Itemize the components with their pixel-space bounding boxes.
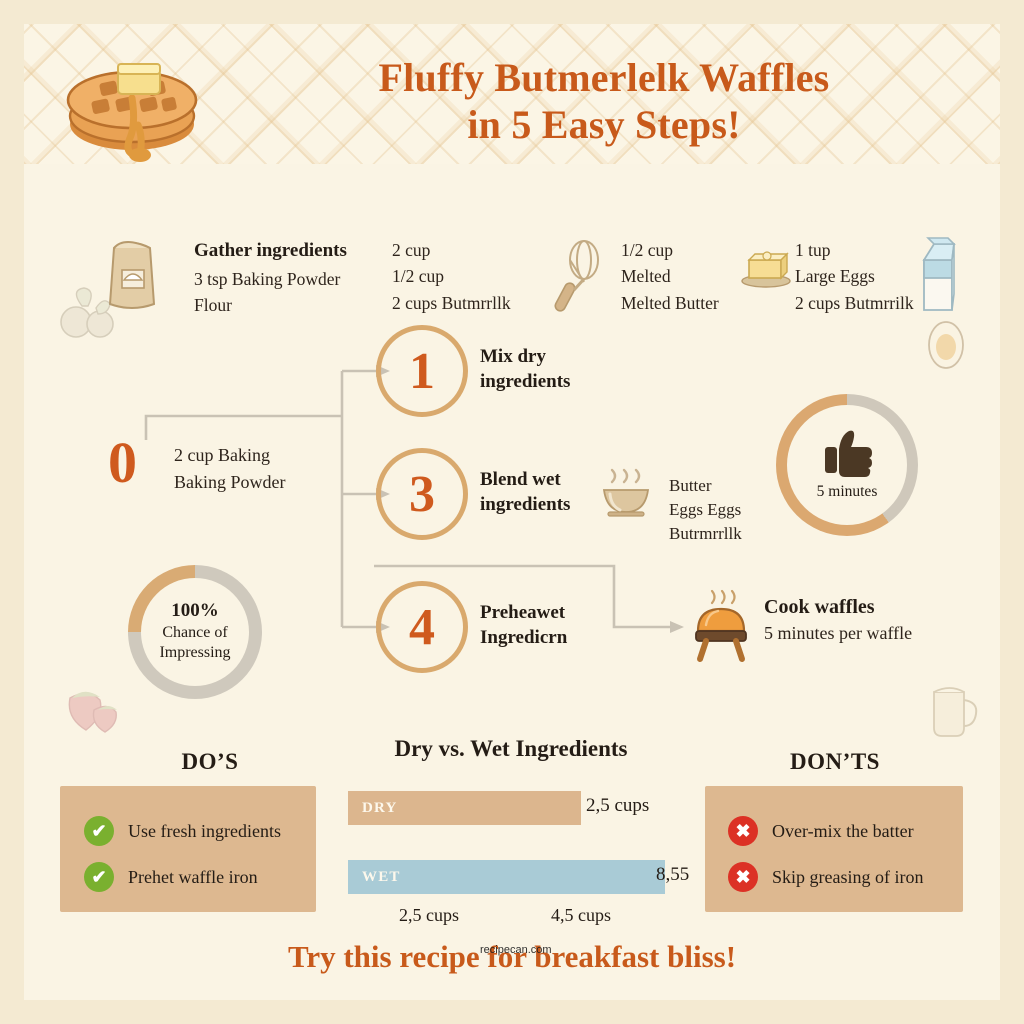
step-1-label-line-2: ingredients — [480, 369, 570, 394]
ingredient-amount: 1/2 cup — [392, 263, 511, 289]
ingredient-heading: Gather ingredients — [194, 240, 347, 261]
step-3-label-line-1: Blend wet — [480, 467, 570, 492]
blueberries-icon — [52, 282, 124, 344]
cook-waffles-title: Cook waffles — [764, 596, 912, 619]
egg-icon — [924, 314, 968, 372]
whisk-icon — [552, 240, 612, 316]
donts-item-1-label: Over-mix the batter — [772, 821, 914, 842]
thumbs-up-icon — [819, 429, 875, 477]
page-title: Fluffy Butmerlelk Waffles in 5 Easy Step… — [254, 54, 954, 148]
dos-item-2-label: Prehet waffle iron — [128, 867, 258, 888]
wet-note-line-3: Butrmrrllk — [669, 522, 742, 546]
step-1-label: Mix dry ingredients — [480, 344, 570, 394]
check-circle-icon: ✔ — [84, 862, 114, 892]
waffle-stack-with-butter-icon — [48, 42, 218, 162]
time-donut-value: 5 minutes — [817, 482, 878, 502]
milk-carton-icon — [912, 234, 964, 316]
step-zero-number: 0 — [108, 434, 137, 492]
impress-donut-value: 100% — [171, 600, 219, 623]
bar-wet-category: WET — [348, 869, 401, 886]
ingredient-group-butter: 1/2 cup Melted Melted Butter — [621, 237, 719, 316]
header-banner: Fluffy Butmerlelk Waffles in 5 Easy Step… — [24, 24, 1000, 164]
impress-donut-chart: 100% Chance of Impressing — [128, 565, 262, 699]
page-title-line-2: in 5 Easy Steps! — [254, 101, 954, 148]
waffle-iron-icon — [688, 589, 754, 663]
page-title-line-1: Fluffy Butmerlelk Waffles — [379, 55, 830, 100]
x-circle-icon: ✖ — [728, 816, 758, 846]
step-4-label-line-2: Ingredicrn — [480, 625, 567, 650]
step-3-label-line-2: ingredients — [480, 492, 570, 517]
step-1-circle[interactable]: 1 — [376, 325, 468, 417]
ingredient-amount: 2 cups Butmrrllk — [392, 290, 511, 316]
wet-note-line-2: Eggs Eggs — [669, 498, 742, 522]
bar-wet-value: 8,55 — [656, 864, 689, 886]
ingredient-group-eggs: 1 tup Large Eggs 2 cups Butmrrilk — [795, 237, 914, 316]
ingredient-line: 1/2 cup — [621, 237, 719, 263]
check-circle-icon: ✔ — [84, 816, 114, 846]
dos-panel — [60, 786, 316, 912]
chart-axis-label-2: 4,5 cups — [551, 905, 611, 926]
ingredient-group-dry-amounts: 2 cup 1/2 cup 2 cups Butmrrllk — [392, 237, 511, 316]
step-4-circle[interactable]: 4 — [376, 581, 468, 673]
step-zero-note-line-2: Baking Powder — [174, 469, 286, 496]
step-zero-note-line-1: 2 cup Baking — [174, 442, 286, 469]
infographic-card: Fluffy Butmerlelk Waffles in 5 Easy Step… — [24, 24, 1000, 1000]
dos-item-1[interactable]: ✔ Use fresh ingredients — [84, 816, 314, 846]
wet-ingredients-note: Butter Eggs Eggs Butrmrrllk — [669, 474, 742, 546]
ingredient-group-dry: Gather ingredients 3 tsp Baking Powder F… — [194, 237, 347, 318]
step-4-label: Preheawet Ingredicrn — [480, 600, 567, 650]
donts-item-2[interactable]: ✖ Skip greasing of iron — [728, 862, 968, 892]
dos-item-1-label: Use fresh ingredients — [128, 821, 281, 842]
infographic-page: Fluffy Butmerlelk Waffles in 5 Easy Step… — [0, 0, 1024, 1024]
ingredient-line: 1 tup — [795, 237, 914, 263]
bar-dry-category: DRY — [348, 800, 398, 817]
milk-pitcher-icon — [920, 674, 986, 744]
donts-title: DON’TS — [700, 749, 970, 775]
time-donut-chart: 5 minutes — [776, 394, 918, 536]
ingredient-amount: 2 cup — [392, 237, 511, 263]
impress-donut-sub-2: Impressing — [159, 643, 230, 663]
ingredient-line: 3 tsp Baking Powder — [194, 266, 347, 292]
chart-title: Dry vs. Wet Ingredients — [336, 736, 686, 762]
x-circle-icon: ✖ — [728, 862, 758, 892]
chart-axis-label-1: 2,5 cups — [399, 905, 459, 926]
wet-note-line-1: Butter — [669, 474, 742, 498]
ingredient-line: Large Eggs — [795, 263, 914, 289]
step-zero-note: 2 cup Baking Baking Powder — [174, 442, 286, 496]
step-1-label-line-1: Mix dry — [480, 344, 570, 369]
dos-title: DO’S — [60, 749, 360, 775]
strawberries-icon — [54, 674, 126, 736]
ingredient-line: 2 cups Butmrrilk — [795, 290, 914, 316]
ingredient-line: Melted Butter — [621, 290, 719, 316]
bar-dry-value: 2,5 cups — [586, 795, 649, 817]
step-3-label: Blend wet ingredients — [480, 467, 570, 517]
ingredient-line: Melted — [621, 263, 719, 289]
bar-wet[interactable]: WET — [348, 860, 678, 894]
step-4-label-line-1: Preheawet — [480, 600, 567, 625]
cook-waffles-subtitle: 5 minutes per waffle — [764, 623, 912, 644]
dos-item-2[interactable]: ✔ Prehet waffle iron — [84, 862, 314, 892]
donts-item-1[interactable]: ✖ Over-mix the batter — [728, 816, 968, 846]
watermark: recipecan.com — [480, 944, 552, 956]
donts-item-2-label: Skip greasing of iron — [772, 867, 923, 888]
butter-stick-icon — [739, 248, 793, 288]
cook-waffles-note: Cook waffles 5 minutes per waffle — [764, 596, 912, 644]
step-3-circle[interactable]: 3 — [376, 448, 468, 540]
steaming-bowl-icon — [594, 462, 656, 524]
ingredient-line: Flour — [194, 292, 347, 318]
impress-donut-sub-1: Chance of — [162, 623, 227, 643]
donts-panel — [705, 786, 963, 912]
